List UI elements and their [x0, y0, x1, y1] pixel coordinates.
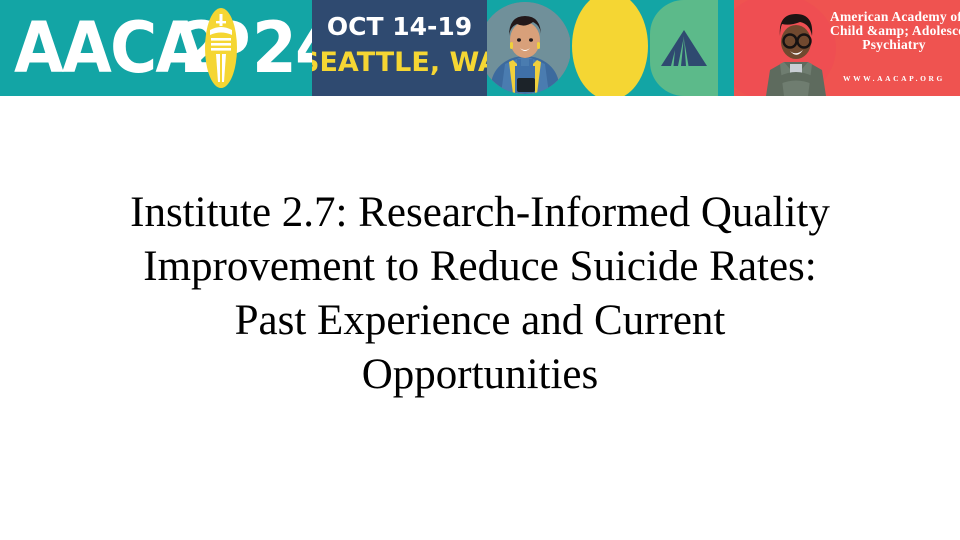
conference-city: SEATTLE, WA [312, 47, 487, 78]
conference-dates: OCT 14-19 [327, 12, 472, 41]
woman-photo-panel [487, 0, 570, 96]
org-name-line-1: American Academy of [830, 10, 958, 24]
aacap-logo-panel: AACAP 2 24 [0, 0, 312, 96]
mountain-panel [650, 0, 718, 96]
child-photo [754, 6, 838, 96]
mountain-icon [661, 30, 707, 66]
title-line-3: Past Experience and Current [0, 294, 960, 348]
title-line-1: Institute 2.7: Research-Informed Quality [0, 186, 960, 240]
slide-title: Institute 2.7: Research-Informed Quality… [0, 186, 960, 402]
space-needle-icon [205, 8, 237, 88]
yellow-shape-panel [570, 0, 650, 96]
aacap-wordmark: AACAP 2 24 [14, 10, 304, 86]
wordmark-year-suffix: 24 [252, 10, 312, 86]
woman-photo [487, 2, 570, 94]
teal-divider-strip [718, 0, 734, 96]
organization-name: American Academy of Child &amp; Adolesce… [830, 10, 958, 51]
title-line-4: Opportunities [0, 348, 960, 402]
org-name-line-3: Psychiatry [830, 38, 958, 52]
org-name-line-2: Child &amp; Adolescent [830, 24, 958, 38]
aacap-org-panel: American Academy of Child &amp; Adolesce… [734, 0, 960, 96]
organization-url: WWW.AACAP.ORG [830, 74, 958, 83]
conference-banner: AACAP 2 24 OCT 14-19 SEATTLE, WA [0, 0, 960, 96]
yellow-oval-shape [572, 0, 648, 96]
date-location-panel: OCT 14-19 SEATTLE, WA [312, 0, 487, 96]
presentation-slide: AACAP 2 24 OCT 14-19 SEATTLE, WA [0, 0, 960, 540]
title-line-2: Improvement to Reduce Suicide Rates: [0, 240, 960, 294]
